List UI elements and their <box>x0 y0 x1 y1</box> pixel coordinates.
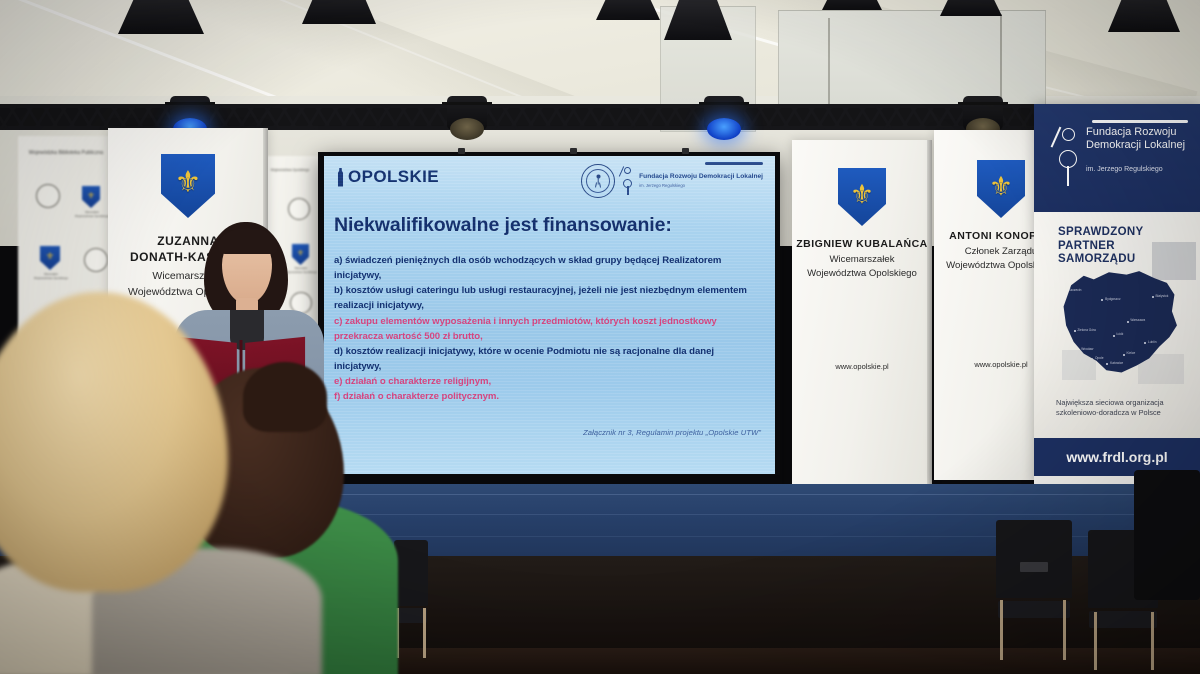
map-city-dot <box>1152 296 1154 298</box>
tower-icon <box>337 168 344 187</box>
map-city-label: Opole <box>1095 356 1104 360</box>
map-city-label: Lublin <box>1148 340 1157 344</box>
sponsor-caption: MarszałekWojewództwa Opolskiego <box>32 272 70 280</box>
map-city-dot <box>1144 342 1146 344</box>
sponsor-caption: MarszałekWojewództwa Opolskiego <box>74 210 110 218</box>
slide-line: inicjatywy, <box>334 268 763 283</box>
opolskie-wordmark: OPOLSKIE <box>348 167 439 187</box>
slide-line: inicjatywy, <box>334 359 763 374</box>
map-city-dot <box>1101 299 1103 301</box>
slide-line: realizacji inicjatywy, <box>334 298 763 313</box>
pendant-lamp-icon <box>118 0 204 34</box>
opole-coat-of-arms: ⚜ <box>838 168 886 226</box>
banner-url: www.opolskie.pl <box>792 362 932 371</box>
frdl-claim-line2: SAMORZĄDU <box>1058 253 1135 265</box>
map-city-dot <box>1113 335 1115 337</box>
par-can-blue-icon <box>170 96 210 130</box>
pendant-lamp-icon <box>822 0 882 10</box>
frdl-tagline: Największa sieciowa organizacja szkoleni… <box>1056 398 1164 418</box>
frdl-url: www.frdl.org.pl <box>1066 449 1167 465</box>
slide-body: a) świadczeń pieniężnych dla osób wchodz… <box>334 253 763 405</box>
slide-line: d) kosztów realizacji inicjatywy, które … <box>334 344 763 359</box>
map-city-dot <box>1123 354 1125 356</box>
par-can-warm-icon <box>963 96 1003 130</box>
frdl-claim-line1: SPRAWDZONY PARTNER <box>1058 226 1143 252</box>
frdl-figure-icon <box>621 166 636 196</box>
frdl-brand-line1: Fundacja Rozwoju <box>1086 126 1177 138</box>
opole-coat-of-arms: ⚜ <box>161 154 215 218</box>
frdl-figure-icon <box>1054 126 1080 188</box>
map-city-label: Kielce <box>1127 351 1136 355</box>
frdl-logo-subtitle: im. Jerzego Regulskiego <box>639 183 763 188</box>
map-city-label: Wrocław <box>1081 347 1093 351</box>
par-can-blue-icon <box>704 96 744 130</box>
map-city-label: Katowice <box>1110 361 1123 365</box>
audience-green-head-top <box>243 362 327 432</box>
opole-shield-icon: ⚜ <box>82 186 100 208</box>
frdl-brand-text: Fundacja Rozwoju Demokracji Lokalnej <box>1086 126 1185 151</box>
map-city-label: Bydgoszcz <box>1105 297 1120 301</box>
frdl-logo-name: Fundacja Rozwoju Demokracji Lokalnej <box>639 173 763 180</box>
map-city-label: Zielona Góra <box>1077 328 1095 332</box>
map-city-label: Szczecin <box>1069 288 1082 292</box>
map-city-dot <box>1106 363 1108 365</box>
banner-kubalanca: ⚜ ZBIGNIEW KUBALAŃCA Wicemarszałek Wojew… <box>792 140 932 488</box>
slide-line: c) zakupu elementów wyposażenia i innych… <box>334 314 763 329</box>
frdl-tagline-line2: szkoleniowo-doradcza w Polsce <box>1056 408 1161 417</box>
slide-line: przekracza wartość 500 zł brutto, <box>334 329 763 344</box>
slide-line: a) świadczeń pieniężnych dla osób wchodz… <box>334 253 763 268</box>
slide-heading: Niekwalifikowalne jest finansowanie: <box>334 214 672 237</box>
banner-role-line1: Wicemarszałek <box>792 254 932 265</box>
frdl-banner-header: Fundacja Rozwoju Demokracji Lokalnej im.… <box>1034 104 1200 212</box>
map-city-label: Białystok <box>1156 294 1169 298</box>
opole-shield-icon: ⚜ <box>40 246 60 270</box>
frdl-logo: Fundacja Rozwoju Demokracji Lokalnej im.… <box>621 166 763 196</box>
library-seal-icon <box>288 198 310 220</box>
par-can-warm-icon <box>447 96 487 130</box>
sponsor-caption: Województwa Opolskiego <box>260 168 320 172</box>
pendant-lamp-icon <box>302 0 376 24</box>
frdl-logo-text: Fundacja Rozwoju Demokracji Lokalnej im.… <box>639 173 763 188</box>
pendant-lamp-icon <box>1108 0 1180 32</box>
circular-seal-icon <box>581 164 615 198</box>
frdl-claim: SPRAWDZONY PARTNER SAMORZĄDU <box>1058 226 1200 267</box>
slide-citation: Załącznik nr 3, Regulamin projektu „Opol… <box>583 428 761 437</box>
slide-line: e) działań o charakterze religijnym, <box>334 374 763 389</box>
map-city-label: Łódź <box>1116 332 1123 336</box>
slide-logos: Fundacja Rozwoju Demokracji Lokalnej im.… <box>581 164 763 198</box>
conference-photo-scene: Wojewódzka Biblioteka Publiczna ⚜ Marsza… <box>0 0 1200 674</box>
pendant-lamp-icon <box>596 0 660 20</box>
banner-role-line2: Województwa Opolskiego <box>792 268 932 279</box>
chair <box>394 540 428 658</box>
pendant-lamp-icon <box>940 0 1002 16</box>
opole-coat-of-arms: ⚜ <box>977 160 1025 218</box>
chair <box>996 520 1072 660</box>
banner-name: ZBIGNIEW KUBALAŃCA <box>792 238 932 250</box>
chair <box>1134 470 1200 600</box>
map-city-dot <box>1127 321 1129 323</box>
opolskie-logo: OPOLSKIE <box>337 167 439 187</box>
pendant-lamp-icon <box>664 0 732 40</box>
map-city-dot <box>1074 330 1076 332</box>
library-seal-icon <box>36 184 60 208</box>
banner-frdl: Fundacja Rozwoju Demokracji Lokalnej im.… <box>1034 104 1200 484</box>
map-city-label: Warszawa <box>1130 318 1145 322</box>
frdl-brand-sub: im. Jerzego Regulskiego <box>1086 166 1163 173</box>
projection-screen: OPOLSKIE Fundacja Rozwoju Demokracji Lok… <box>318 152 780 497</box>
sponsor-wall-title: Wojewódzka Biblioteka Publiczna <box>18 150 114 156</box>
presentation-slide: OPOLSKIE Fundacja Rozwoju Demokracji Lok… <box>324 156 775 474</box>
frdl-brand-line2: Demokracji Lokalnej <box>1086 139 1185 151</box>
frdl-tagline-line1: Największa sieciowa organizacja <box>1056 398 1164 407</box>
library-seal-icon <box>84 248 108 272</box>
slide-line: b) kosztów usługi cateringu lub usługi r… <box>334 283 763 298</box>
slide-line: f) działań o charakterze politycznym. <box>334 389 763 404</box>
